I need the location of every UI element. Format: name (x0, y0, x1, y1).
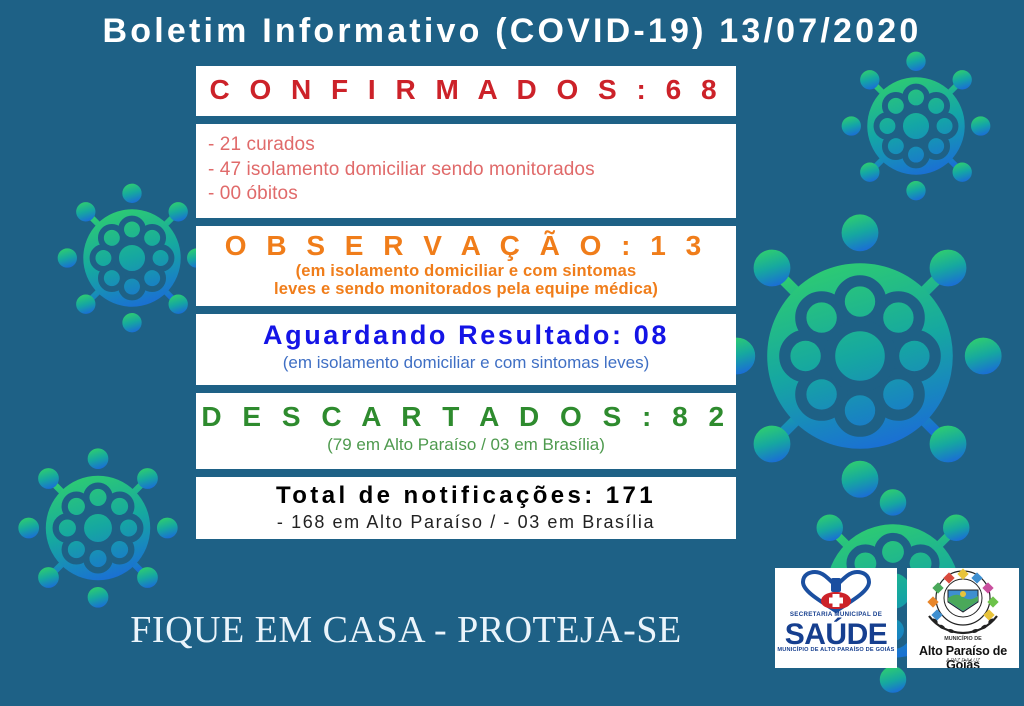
coronavirus-decoration-top-right (832, 42, 1000, 210)
total-notifications-heading: Total de notificações: 171 (200, 482, 732, 510)
coat-of-arms-icon (907, 568, 1019, 638)
observation-card: O B S E R V A Ç Ã O : 1 3 (em isolamento… (196, 226, 736, 307)
city-hall-main-word: Alto Paraíso de Goiás (907, 644, 1019, 668)
health-secretary-top-line: SECRETARIA MUNICIPAL DE (775, 611, 897, 618)
city-hall-top-line: MUNICÍPIO DE (907, 636, 1019, 642)
health-secretary-main-word: SAÚDE (775, 620, 897, 650)
observation-subtitle-line1: (em isolamento domiciliar e com sintomas (200, 262, 732, 281)
awaiting-result-heading: Aguardando Resultado: 08 (200, 320, 732, 351)
discarded-heading: D E S C A R T A D O S : 8 2 (200, 401, 732, 433)
total-notifications-subtitle: - 168 em Alto Paraíso / - 03 em Brasília (200, 510, 732, 533)
observation-heading: O B S E R V A Ç Ã O : 1 3 (200, 230, 732, 262)
awaiting-result-subtitle: (em isolamento domiciliar e com sintomas… (200, 351, 732, 373)
total-notifications-card: Total de notificações: 171 - 168 em Alto… (196, 477, 736, 539)
confirmed-details-card: - 21 curados - 47 isolamento domiciliar … (196, 124, 736, 218)
coronavirus-decoration-right-large (700, 196, 1020, 516)
health-secretary-logo: SECRETARIA MUNICIPAL DE SAÚDE MUNICÍPIO … (775, 568, 897, 668)
footer-slogan: FIQUE EM CASA - PROTEJA-SE (96, 608, 716, 652)
heart-cross-health-icon (775, 568, 897, 616)
awaiting-result-card: Aguardando Resultado: 08 (em isolamento … (196, 314, 736, 385)
discarded-card: D E S C A R T A D O S : 8 2 (79 em Alto … (196, 393, 736, 469)
observation-subtitle-line2: leves e sendo monitorados pela equipe mé… (200, 280, 732, 299)
city-hall-bottom-line: A PAZ E A LUZ (907, 658, 1019, 664)
discarded-subtitle: (79 em Alto Paraíso / 03 em Brasília) (200, 433, 732, 455)
city-hall-logo: MUNICÍPIO DE Alto Paraíso de Goiás A PAZ… (907, 568, 1019, 668)
confirmed-detail-deaths: - 00 óbitos (208, 182, 724, 207)
confirmed-detail-isolation: - 47 isolamento domiciliar sendo monitor… (208, 158, 724, 183)
health-secretary-bottom-line: MUNICÍPIO DE ALTO PARAÍSO DE GOIÁS (775, 647, 897, 653)
page-title: Boletim Informativo (COVID-19) 13/07/202… (0, 12, 1024, 51)
coronavirus-decoration-left-middle (48, 174, 216, 342)
confirmed-heading-card: C O N F I R M A D O S : 6 8 (196, 66, 736, 116)
confirmed-heading: C O N F I R M A D O S : 6 8 (206, 70, 726, 112)
confirmed-detail-cured: - 21 curados (208, 133, 724, 158)
bulletin-sections: C O N F I R M A D O S : 6 8 - 21 curados… (196, 66, 736, 547)
coronavirus-decoration-left-bottom (8, 438, 188, 618)
